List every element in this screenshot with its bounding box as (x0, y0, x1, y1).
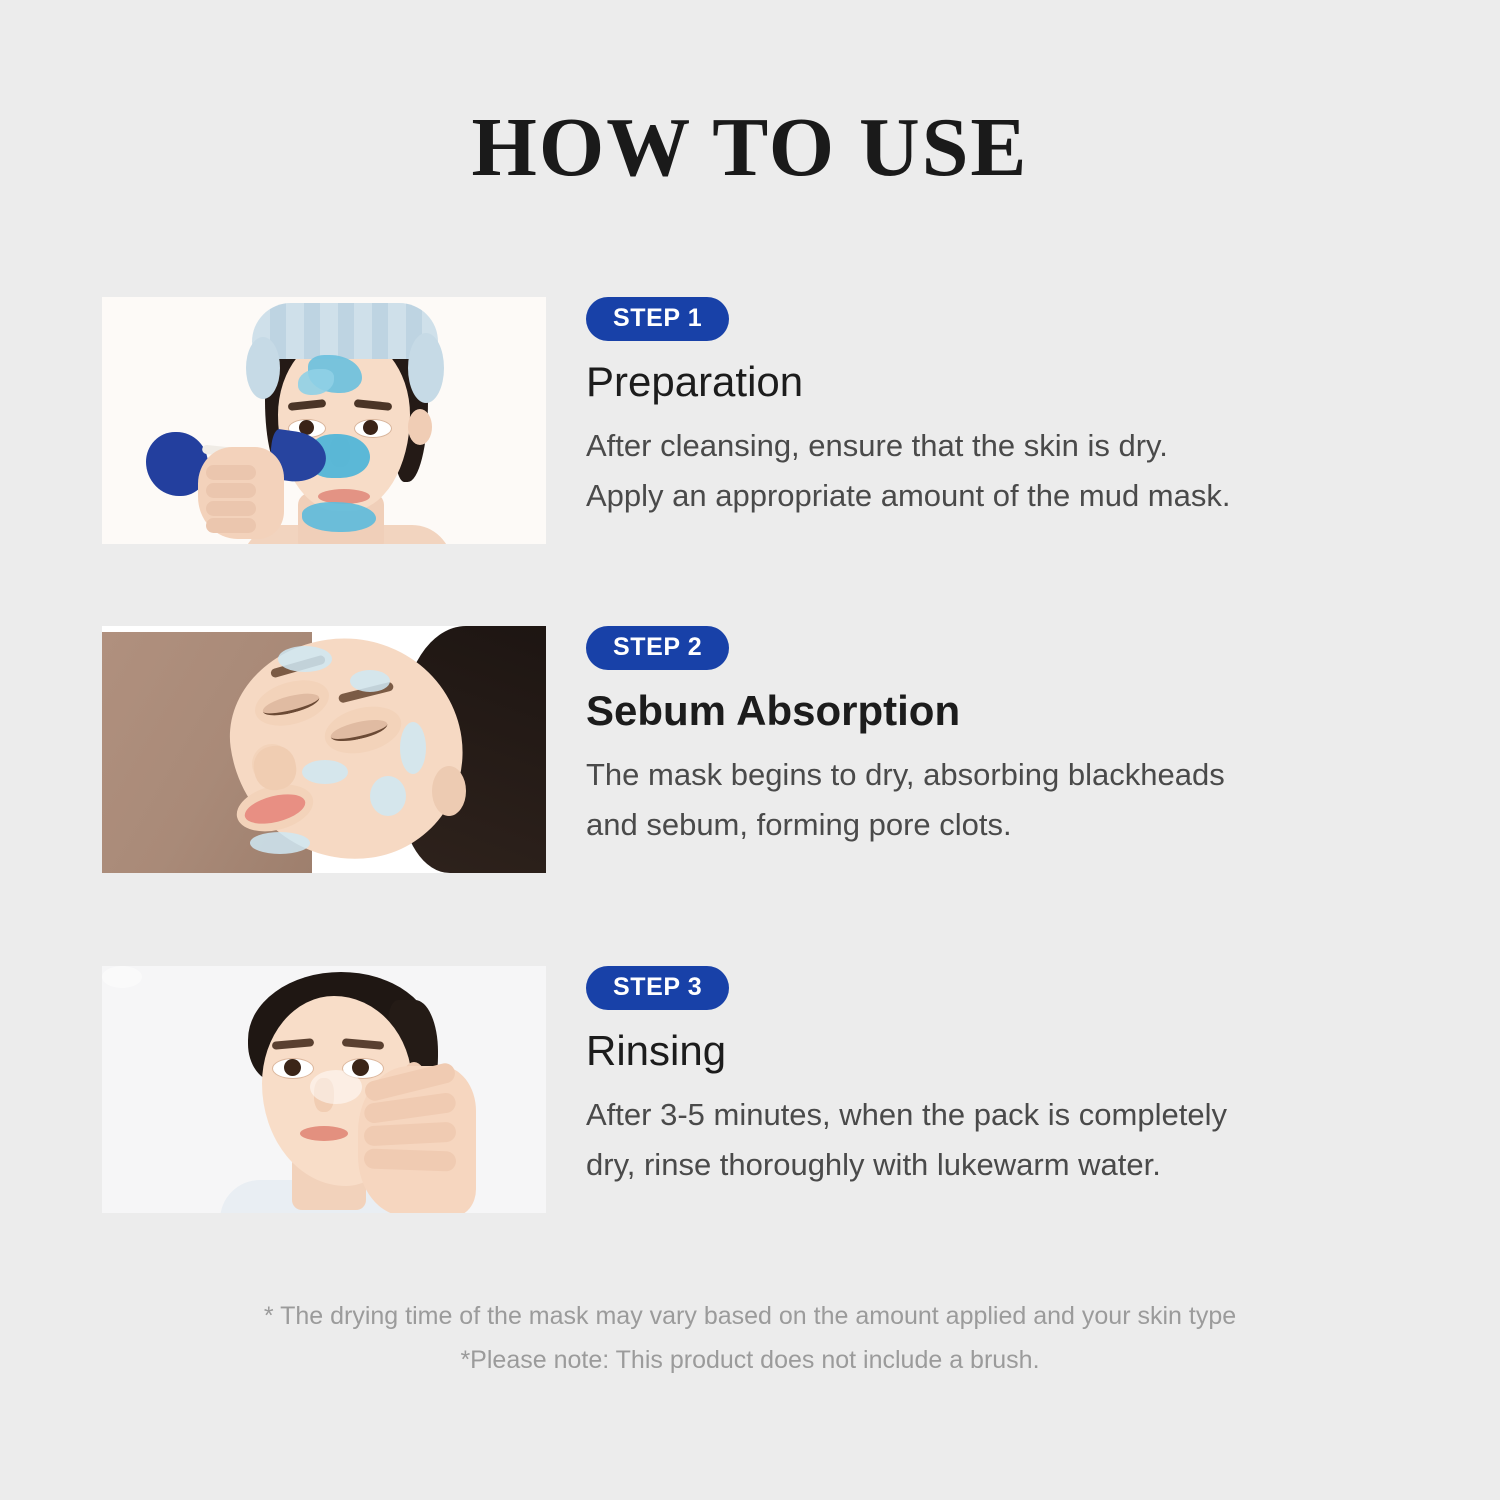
step-2-body: The mask begins to dry, absorbing blackh… (586, 750, 1416, 850)
step-3-title: Rinsing (586, 1029, 1416, 1073)
step-3-image (102, 966, 546, 1213)
step-1-body-line-2: Apply an appropriate amount of the mud m… (586, 471, 1416, 521)
step-3-text: STEP 3 Rinsing After 3-5 minutes, when t… (586, 966, 1416, 1191)
step-2-image (102, 626, 546, 873)
step-3-body-line-2: dry, rinse thoroughly with lukewarm wate… (586, 1140, 1416, 1190)
step-1-text: STEP 1 Preparation After cleansing, ensu… (586, 297, 1416, 522)
step-1-body: After cleansing, ensure that the skin is… (586, 421, 1416, 521)
step-2-badge: STEP 2 (586, 626, 729, 670)
step-1-title: Preparation (586, 360, 1416, 404)
footnote-1: * The drying time of the mask may vary b… (0, 1295, 1500, 1339)
step-1-body-line-1: After cleansing, ensure that the skin is… (586, 421, 1416, 471)
step-1-badge: STEP 1 (586, 297, 729, 341)
step-3-body-line-1: After 3-5 minutes, when the pack is comp… (586, 1090, 1416, 1140)
step-2-body-line-2: and sebum, forming pore clots. (586, 800, 1416, 850)
step-3-badge: STEP 3 (586, 966, 729, 1010)
how-to-use-page: HOW TO USE (0, 0, 1500, 1500)
footnotes: * The drying time of the mask may vary b… (0, 1295, 1500, 1383)
step-2-text: STEP 2 Sebum Absorption The mask begins … (586, 626, 1416, 851)
step-1-image (102, 297, 546, 544)
step-2-title: Sebum Absorption (586, 689, 1416, 733)
step-2-body-line-1: The mask begins to dry, absorbing blackh… (586, 750, 1416, 800)
step-3-body: After 3-5 minutes, when the pack is comp… (586, 1090, 1416, 1190)
page-title: HOW TO USE (0, 106, 1500, 190)
footnote-2: *Please note: This product does not incl… (0, 1339, 1500, 1383)
